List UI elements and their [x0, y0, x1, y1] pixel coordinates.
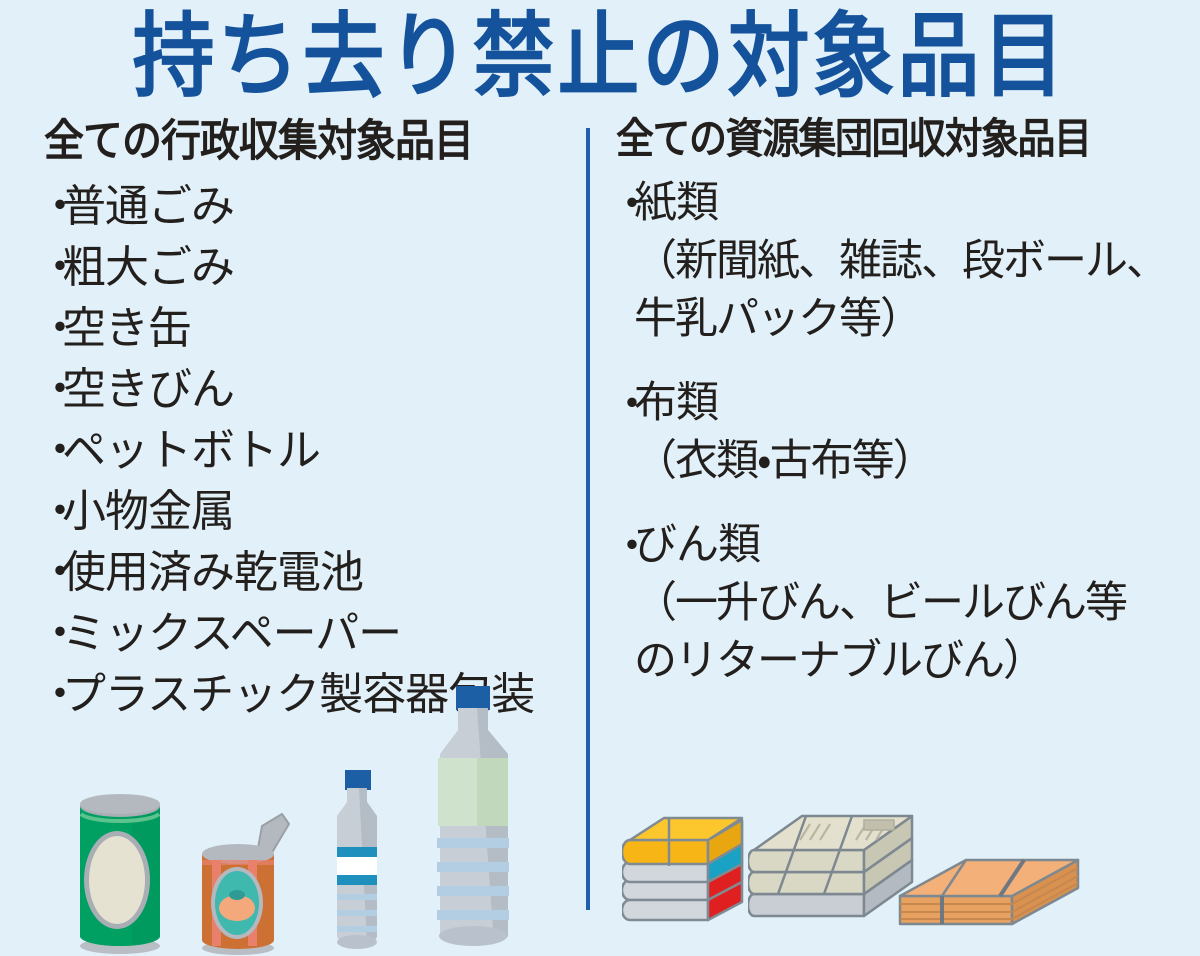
bullet-marker: ・ — [610, 516, 653, 577]
bullet-marker: ・ — [38, 176, 81, 237]
cardboard-bundle-illustration — [896, 806, 1082, 932]
list-item-row: ・紙類 — [608, 174, 1188, 232]
list-item: ・普通ごみ — [36, 176, 576, 237]
magazine-bundle-illustration — [622, 806, 772, 930]
newspaper-bundle-illustration — [748, 798, 918, 932]
bullet-marker: ・ — [610, 374, 653, 435]
list-item: ・ペットボトル — [36, 420, 576, 481]
list-item-row: ・布類 — [608, 374, 1188, 432]
list-item: ・使用済み乾電池 — [36, 542, 576, 603]
list-item-row: ・びん類 — [608, 516, 1188, 574]
right-column-heading: 全ての資源集団回収対象品目 — [616, 118, 1188, 162]
list-item: ・紙類 （新聞紙、雑誌、段ボール、 牛乳パック等） — [608, 174, 1188, 348]
title-banner: 持ち去り禁止の対象品目 — [0, 6, 1200, 110]
bullet-marker: ・ — [38, 237, 81, 298]
list-item-label: ペットボトル — [62, 425, 320, 476]
list-item: ・空きびん — [36, 359, 576, 420]
list-item-label: 空き缶 — [62, 303, 191, 354]
right-column-item-list: ・紙類 （新聞紙、雑誌、段ボール、 牛乳パック等） ・布類 （衣類・古布等） ・… — [608, 174, 1188, 690]
bullet-marker: ・ — [38, 298, 81, 359]
list-item-label: 粗大ごみ — [62, 242, 234, 293]
list-item-detail: 牛乳パック等） — [608, 290, 1188, 348]
list-item: ・空き缶 — [36, 298, 576, 359]
list-item-label: 空きびん — [62, 364, 234, 415]
page-title: 持ち去り禁止の対象品目 — [132, 12, 1067, 104]
list-item: ・小物金属 — [36, 481, 576, 542]
list-item: ・粗大ごみ — [36, 237, 576, 298]
list-item-label: 普通ごみ — [62, 181, 234, 232]
bullet-marker: ・ — [38, 359, 81, 420]
left-column-item-list: ・普通ごみ ・粗大ごみ ・空き缶 ・空きびん ・ペットボトル ・小物金属 ・使用… — [36, 176, 576, 725]
list-item: ・びん類 （一升びん、ビールびん等 のリターナブルびん） — [608, 516, 1188, 690]
columns-container: 全ての行政収集対象品目 ・普通ごみ ・粗大ごみ ・空き缶 ・空きびん ・ペットボ… — [0, 118, 1200, 818]
list-item: ・布類 （衣類・古布等） — [608, 374, 1188, 490]
left-column-heading: 全ての行政収集対象品目 — [44, 118, 576, 164]
bullet-marker: ・ — [38, 420, 81, 481]
list-item-label: プラスチック製容器包装 — [62, 669, 534, 720]
list-item-detail: （衣類・古布等） — [608, 432, 1188, 490]
bullet-marker: ・ — [38, 542, 81, 603]
list-item-detail: （一升びん、ビールびん等 — [608, 574, 1188, 632]
list-item: ・ミックスペーパー — [36, 603, 576, 664]
list-item-label: 使用済み乾電池 — [62, 547, 363, 598]
list-item-label: 小物金属 — [62, 486, 234, 537]
list-item-detail: （新聞紙、雑誌、段ボール、 — [608, 232, 1188, 290]
bullet-marker: ・ — [38, 481, 81, 542]
right-column: 全ての資源集団回収対象品目 ・紙類 （新聞紙、雑誌、段ボール、 牛乳パック等） … — [608, 118, 1188, 690]
poster-root: 持ち去り禁止の対象品目 全ての行政収集対象品目 ・普通ごみ ・粗大ごみ ・空き缶… — [0, 0, 1200, 956]
orange-steel-can-illustration — [190, 808, 310, 956]
list-item-detail: のリターナブルびん） — [608, 632, 1188, 690]
bullet-marker: ・ — [38, 664, 81, 725]
left-column: 全ての行政収集対象品目 ・普通ごみ ・粗大ごみ ・空き缶 ・空きびん ・ペットボ… — [36, 118, 576, 725]
list-item-label: ミックスペーパー — [62, 608, 401, 659]
bullet-marker: ・ — [38, 603, 81, 664]
list-item: ・プラスチック製容器包装 — [36, 664, 576, 725]
bullet-marker: ・ — [610, 174, 653, 235]
